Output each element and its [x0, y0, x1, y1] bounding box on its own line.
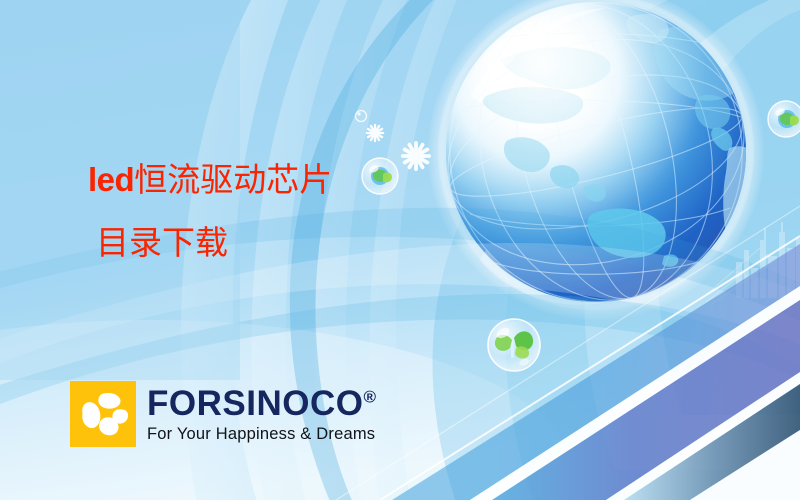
logo-name-text: FORSINOCO: [147, 384, 363, 423]
company-logo[interactable]: FORSINOCO® For Your Happiness & Dreams: [70, 381, 376, 447]
logo-tagline: For Your Happiness & Dreams: [147, 426, 376, 443]
bubble-with-leaf-icon: [488, 319, 540, 371]
logo-company-name: FORSINOCO®: [147, 386, 376, 421]
bubble-with-globe-icon: [768, 101, 800, 137]
bubble-with-globe-icon: [362, 158, 398, 194]
promo-banner: led恒流驱动芯片 目录下载 FORSINOCO®: [0, 0, 800, 500]
registered-trademark-icon: ®: [363, 387, 376, 406]
four-petal-flower-icon: [70, 381, 136, 447]
logo-wordmark: FORSINOCO® For Your Happiness & Dreams: [147, 386, 376, 443]
